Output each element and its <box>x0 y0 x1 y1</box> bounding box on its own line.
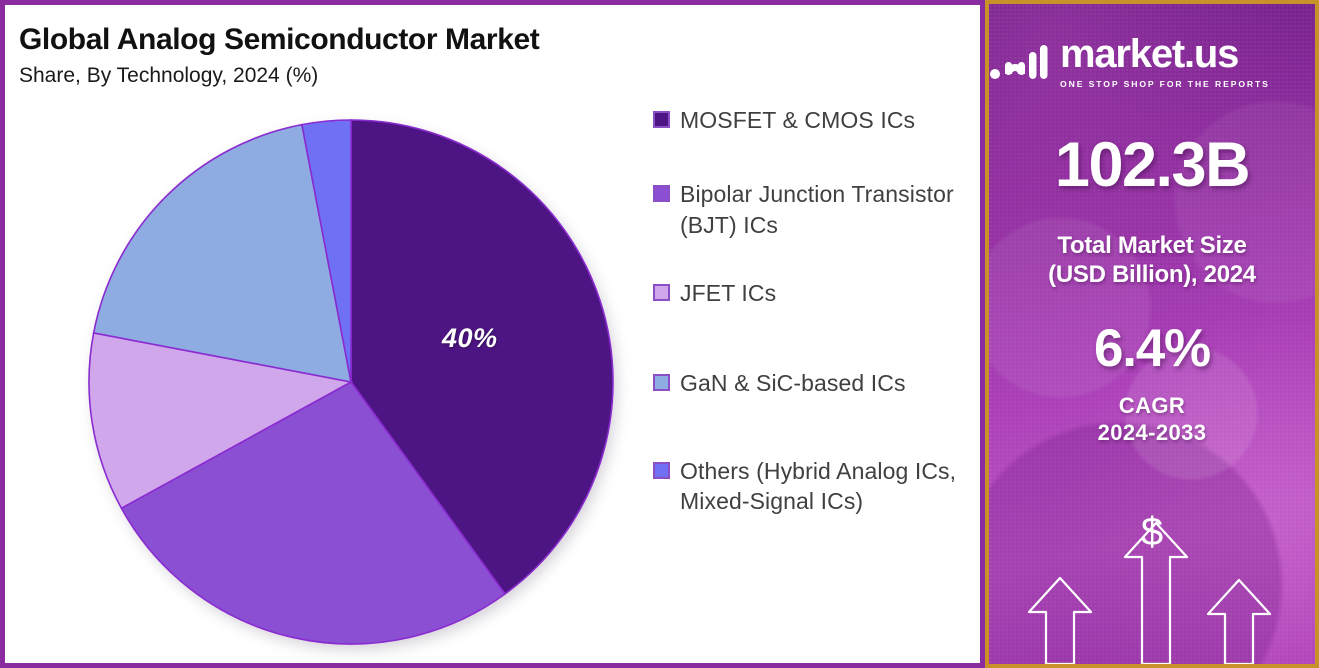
brand-tagline: ONE STOP SHOP FOR THE REPORTS <box>1060 79 1270 89</box>
market-size-caption-line-2: (USD Billion), 2024 <box>989 260 1315 289</box>
cagr-caption-line-2: 2024-2033 <box>989 419 1315 447</box>
legend-swatch-icon <box>653 374 670 391</box>
legend-swatch-icon <box>653 462 670 479</box>
legend-item-label: Others (Hybrid Analog ICs, Mixed-Signal … <box>680 456 973 517</box>
chart-panel: Global Analog Semiconductor Market Share… <box>0 0 985 668</box>
dollar-sign-icon: $ <box>989 512 1315 552</box>
cagr-value: 6.4% <box>989 322 1315 375</box>
market-size-value: 102.3B <box>989 134 1315 197</box>
chart-header: Global Analog Semiconductor Market Share… <box>19 23 539 88</box>
legend-item-label: JFET ICs <box>680 278 776 308</box>
pie-slice-label-mosfet: 40% <box>442 323 498 354</box>
legend-item-jfet-ics[interactable]: JFET ICs <box>653 278 973 308</box>
legend-item-gan-sic-based-ics[interactable]: GaN & SiC-based ICs <box>653 368 973 398</box>
chart-legend: MOSFET & CMOS ICs Bipolar Junction Trans… <box>653 105 973 517</box>
brand-logo-text: market.us ONE STOP SHOP FOR THE REPORTS <box>1060 34 1315 92</box>
legend-item-label: GaN & SiC-based ICs <box>680 368 906 398</box>
pie-slice-group <box>89 120 613 644</box>
brand-name: market.us <box>1060 32 1238 76</box>
legend-item-mosfet-cmos-ics[interactable]: MOSFET & CMOS ICs <box>653 105 973 135</box>
legend-item-label: MOSFET & CMOS ICs <box>680 105 915 135</box>
legend-swatch-icon <box>653 185 670 202</box>
cagr-caption: CAGR 2024-2033 <box>989 392 1315 447</box>
market-us-logo-icon <box>989 40 1051 87</box>
market-size-caption-line-1: Total Market Size <box>989 231 1315 260</box>
legend-swatch-icon <box>653 284 670 301</box>
pie-chart-svg <box>87 118 617 648</box>
legend-item-bipolar-junction-transistor-ics[interactable]: Bipolar Junction Transistor (BJT) ICs <box>653 179 973 240</box>
brand-logo[interactable]: market.us ONE STOP SHOP FOR THE REPORTS <box>989 34 1315 92</box>
pie-chart: 40% <box>87 118 617 648</box>
stat-panel-content: market.us ONE STOP SHOP FOR THE REPORTS … <box>989 34 1315 447</box>
legend-item-label: Bipolar Junction Transistor (BJT) ICs <box>680 179 973 240</box>
market-size-caption: Total Market Size (USD Billion), 2024 <box>989 231 1315 290</box>
legend-swatch-icon <box>653 111 670 128</box>
infographic-root: Global Analog Semiconductor Market Share… <box>0 0 1319 668</box>
chart-subtitle: Share, By Technology, 2024 (%) <box>19 64 539 88</box>
stat-panel: market.us ONE STOP SHOP FOR THE REPORTS … <box>985 0 1319 668</box>
growth-arrows-graphic: $ <box>989 494 1315 664</box>
cagr-caption-line-1: CAGR <box>989 392 1315 420</box>
page-title: Global Analog Semiconductor Market <box>19 23 539 57</box>
legend-item-others[interactable]: Others (Hybrid Analog ICs, Mixed-Signal … <box>653 456 973 517</box>
